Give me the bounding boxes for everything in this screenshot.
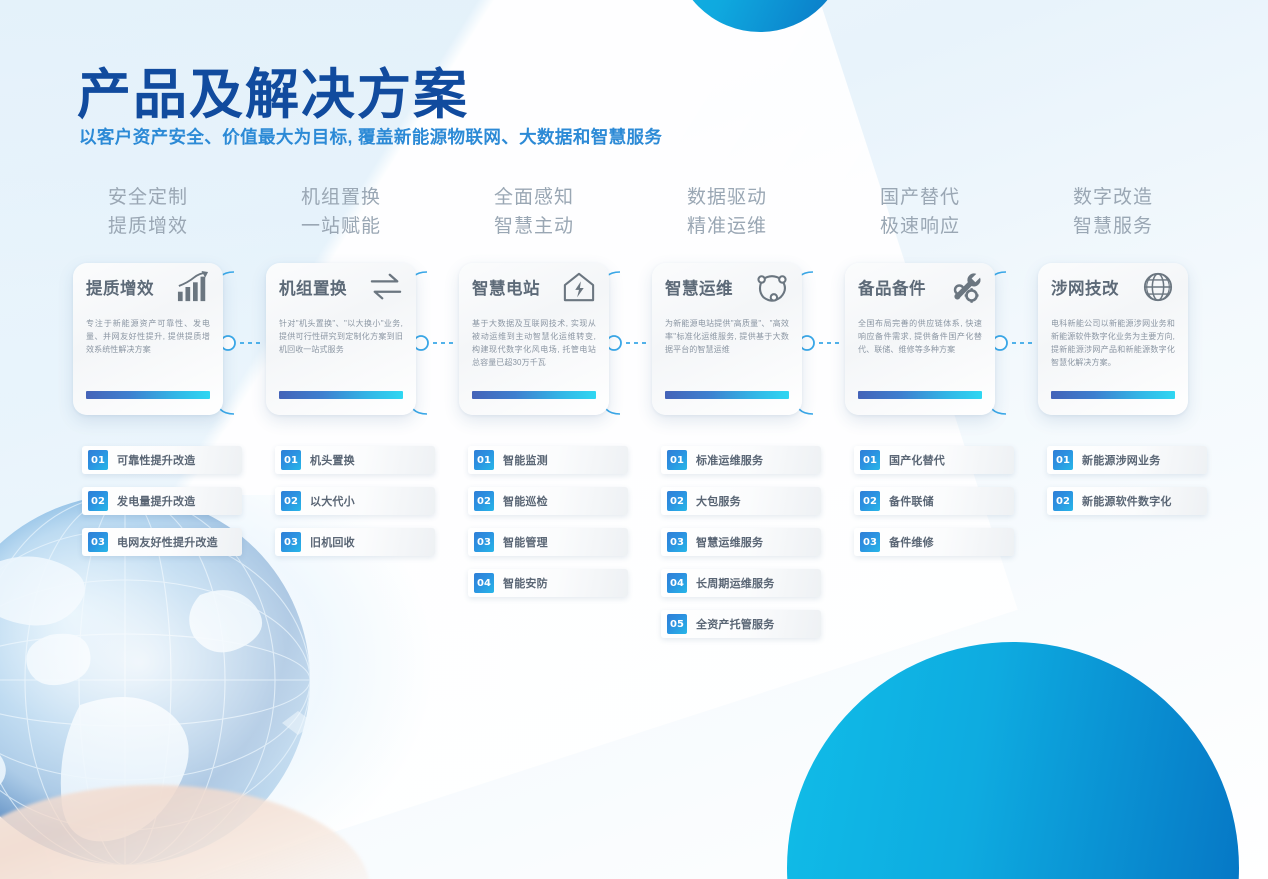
card-5-title: 备品备件 (858, 275, 926, 299)
page-subtitle: 以客户资产安全、价值最大为目标, 覆盖新能源物联网、大数据和智慧服务 (79, 124, 662, 149)
card-tiizhi-zengxiao[interactable]: 提质增效 专注于新能源资产可靠性、发电量、并网友好性提升, 提供提质增效系统性解… (73, 263, 223, 415)
column-header-6-line2: 智慧服务 (1029, 212, 1197, 241)
card-4-description: 为新能源电站提供"高质量"、"高效率"标准化运维服务, 提供基于大数据平台的智慧… (665, 317, 789, 356)
list-item[interactable]: 03 智能管理 (468, 528, 628, 556)
column-header-2: 机组置换 一站赋能 (257, 183, 425, 241)
list-item-label: 旧机回收 (310, 534, 355, 550)
column-header-5-line2: 极速响应 (836, 212, 1004, 241)
globe-grid-icon (1141, 271, 1175, 303)
list-item[interactable]: 03 电网友好性提升改造 (82, 528, 242, 556)
list-item-number: 01 (667, 450, 687, 470)
card-6-header: 涉网技改 (1051, 275, 1175, 311)
card-4-accent-bar (665, 391, 789, 399)
bar-chart-growth-icon (176, 271, 210, 303)
list-item-number: 02 (860, 491, 880, 511)
column-header-4-line1: 数据驱动 (643, 183, 811, 212)
list-item[interactable]: 02 发电量提升改造 (82, 487, 242, 515)
list-item-label: 智能巡检 (503, 493, 548, 509)
list-item-label: 备件联储 (889, 493, 934, 509)
card-shewang-jigai[interactable]: 涉网技改 电科新能公司以新能源涉网业务和新能源软件数字化业务为主要方向, 提新能… (1038, 263, 1188, 415)
card-2-description: 针对"机头置换"、"以大换小"业务, 提供可行性研究到定制化方案到旧机回收一站式… (279, 317, 403, 356)
card-6-accent-bar (1051, 391, 1175, 399)
card-5-description: 全国布局完善的供应链体系, 快速响应备件需求, 提供备件国产化替代、联储、维修等… (858, 317, 982, 356)
list-item-number: 02 (474, 491, 494, 511)
list-item[interactable]: 02 备件联储 (854, 487, 1014, 515)
list-item-number: 02 (667, 491, 687, 511)
list-item-label: 长周期运维服务 (696, 575, 774, 591)
list-item-label: 新能源涉网业务 (1082, 452, 1160, 468)
list-item[interactable]: 01 国产化替代 (854, 446, 1014, 474)
card-2-title: 机组置换 (279, 275, 347, 299)
list-item[interactable]: 02 以大代小 (275, 487, 435, 515)
gradient-circle-top-icon (673, 0, 847, 32)
list-item-number: 01 (281, 450, 301, 470)
column-header-4: 数据驱动 精准运维 (643, 183, 811, 241)
card-1-title: 提质增效 (86, 275, 154, 299)
card-1-header: 提质增效 (86, 275, 210, 311)
card-beipin-beijian[interactable]: 备品备件 全国布局完善的供应链体系, 快速响应备件需求, 提供备件国产化替代、联… (845, 263, 995, 415)
list-item-label: 机头置换 (310, 452, 355, 468)
column-header-6: 数字改造 智慧服务 (1029, 183, 1197, 241)
column-header-3-line2: 智慧主动 (450, 212, 618, 241)
list-item[interactable]: 02 大包服务 (661, 487, 821, 515)
column-header-5-line1: 国产替代 (836, 183, 1004, 212)
column-header-2-line2: 一站赋能 (257, 212, 425, 241)
column-header-3: 全面感知 智慧主动 (450, 183, 618, 241)
card-zhihui-yunwei[interactable]: 智慧运维 为新能源电站提供"高质量"、"高效率"标准化运维服务, 提供基于大数据… (652, 263, 802, 415)
list-item-label: 可靠性提升改造 (117, 452, 195, 468)
column-header-1: 安全定制 提质增效 (64, 183, 232, 241)
card-1-accent-bar (86, 391, 210, 399)
card-5-accent-bar (858, 391, 982, 399)
list-item-number: 03 (474, 532, 494, 552)
list-item-label: 电网友好性提升改造 (117, 534, 218, 550)
list-item-number: 02 (281, 491, 301, 511)
list-item-label: 大包服务 (696, 493, 741, 509)
list-item[interactable]: 01 智能监测 (468, 446, 628, 474)
list-item-number: 05 (667, 614, 687, 634)
column-header-6-line1: 数字改造 (1029, 183, 1197, 212)
list-item-number: 03 (667, 532, 687, 552)
column-header-1-line1: 安全定制 (64, 183, 232, 212)
card-3-description: 基于大数据及互联网技术, 实现从被动运维到主动智慧化运维转变, 构建现代数字化风… (472, 317, 596, 369)
list-item-label: 智能管理 (503, 534, 548, 550)
card-zhihui-dianzhan[interactable]: 智慧电站 基于大数据及互联网技术, 实现从被动运维到主动智慧化运维转变, 构建现… (459, 263, 609, 415)
list-item-number: 01 (860, 450, 880, 470)
list-item-number: 02 (88, 491, 108, 511)
list-item[interactable]: 01 标准运维服务 (661, 446, 821, 474)
list-item-label: 智能安防 (503, 575, 548, 591)
hands-silhouette (0, 785, 370, 879)
card-3-title: 智慧电站 (472, 275, 540, 299)
list-item[interactable]: 01 可靠性提升改造 (82, 446, 242, 474)
list-item[interactable]: 01 机头置换 (275, 446, 435, 474)
list-item-number: 01 (474, 450, 494, 470)
column-header-4-line2: 精准运维 (643, 212, 811, 241)
card-4-title: 智慧运维 (665, 275, 733, 299)
list-item[interactable]: 03 备件维修 (854, 528, 1014, 556)
list-item-label: 备件维修 (889, 534, 934, 550)
card-5-header: 备品备件 (858, 275, 982, 311)
list-item[interactable]: 03 智慧运维服务 (661, 528, 821, 556)
card-3-header: 智慧电站 (472, 275, 596, 311)
list-item-number: 03 (860, 532, 880, 552)
column-header-1-line2: 提质增效 (64, 212, 232, 241)
column-header-5: 国产替代 极速响应 (836, 183, 1004, 241)
card-4-header: 智慧运维 (665, 275, 789, 311)
card-6-description: 电科新能公司以新能源涉网业务和新能源软件数字化业务为主要方向, 提新能源涉网产品… (1051, 317, 1175, 369)
card-2-header: 机组置换 (279, 275, 403, 311)
card-jizu-zhihuan[interactable]: 机组置换 针对"机头置换"、"以大换小"业务, 提供可行性研究到定制化方案到旧机… (266, 263, 416, 415)
card-1-description: 专注于新能源资产可靠性、发电量、并网友好性提升, 提供提质增效系统性解决方案 (86, 317, 210, 356)
list-item-label: 标准运维服务 (696, 452, 763, 468)
list-item-label: 智能监测 (503, 452, 548, 468)
card-6-title: 涉网技改 (1051, 275, 1119, 299)
list-item-number: 01 (1053, 450, 1073, 470)
list-item-label: 以大代小 (310, 493, 355, 509)
house-lightning-icon (562, 271, 596, 303)
card-3-accent-bar (472, 391, 596, 399)
list-item[interactable]: 05 全资产托管服务 (661, 610, 821, 638)
list-item[interactable]: 04 长周期运维服务 (661, 569, 821, 597)
column-header-3-line1: 全面感知 (450, 183, 618, 212)
list-item-number: 03 (281, 532, 301, 552)
card-2-accent-bar (279, 391, 403, 399)
list-item-label: 国产化替代 (889, 452, 945, 468)
network-nodes-icon (755, 271, 789, 303)
list-item[interactable]: 02 新能源软件数字化 (1047, 487, 1207, 515)
list-item-label: 全资产托管服务 (696, 616, 774, 632)
list-item-number: 03 (88, 532, 108, 552)
list-item[interactable]: 04 智能安防 (468, 569, 628, 597)
list-item-number: 04 (667, 573, 687, 593)
wrench-gear-icon (948, 271, 982, 303)
list-item[interactable]: 02 智能巡检 (468, 487, 628, 515)
list-item-number: 02 (1053, 491, 1073, 511)
list-item[interactable]: 01 新能源涉网业务 (1047, 446, 1207, 474)
gradient-circle-bottom-icon (787, 642, 1239, 879)
swap-arrows-icon (369, 271, 403, 303)
list-item[interactable]: 03 旧机回收 (275, 528, 435, 556)
list-item-label: 新能源软件数字化 (1082, 493, 1172, 509)
list-item-label: 智慧运维服务 (696, 534, 763, 550)
infographic-canvas: 产品及解决方案 以客户资产安全、价值最大为目标, 覆盖新能源物联网、大数据和智慧… (0, 0, 1268, 879)
list-item-label: 发电量提升改造 (117, 493, 195, 509)
column-header-2-line1: 机组置换 (257, 183, 425, 212)
list-item-number: 04 (474, 573, 494, 593)
page-title: 产品及解决方案 (77, 50, 469, 129)
list-item-number: 01 (88, 450, 108, 470)
